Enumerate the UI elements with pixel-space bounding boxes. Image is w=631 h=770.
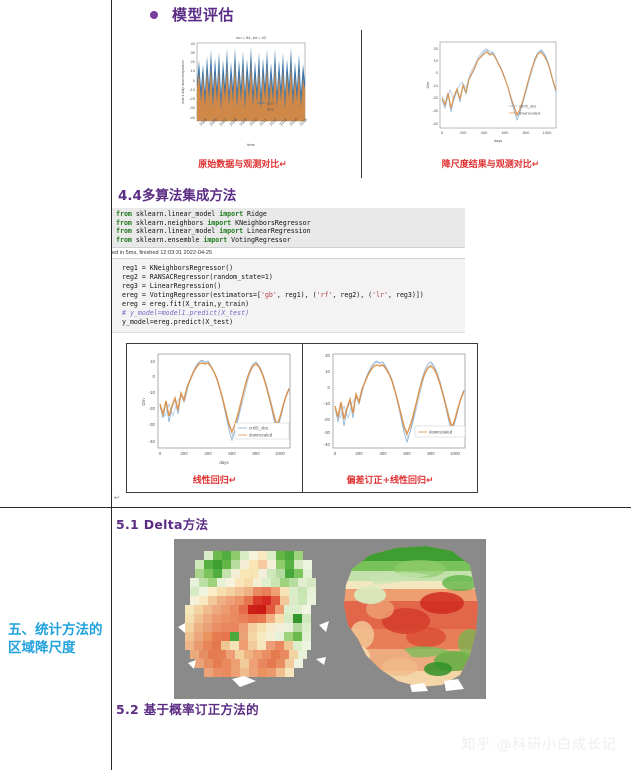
code-input-block[interactable]: from sklearn.linear_model import Ridge f… (112, 208, 465, 247)
code-output-block[interactable]: reg1 = KNeighborsRegressor() reg2 = RANS… (112, 259, 465, 333)
document-page: 模型评估 lon = 84, lat = 43 40 30 20 (0, 0, 631, 770)
svg-text:20: 20 (325, 353, 330, 358)
svg-text:downscaled: downscaled (249, 433, 273, 438)
x-axis-label: days (493, 138, 501, 143)
heading-4-4: 4.4多算法集成方法 (118, 184, 631, 204)
content-cell-section-5: 5.1 Delta方法 (112, 508, 631, 770)
svg-text:-10: -10 (189, 87, 196, 92)
svg-text:1000: 1000 (542, 130, 552, 135)
svg-text:-20: -20 (189, 96, 196, 101)
watermark: 知乎 @科研小白成长记 (462, 734, 617, 754)
bullet-heading: 模型评估 (112, 0, 631, 27)
svg-text:-40: -40 (432, 121, 439, 126)
svg-text:-30: -30 (148, 422, 155, 427)
svg-text:200: 200 (459, 130, 466, 135)
figure-bias-correction: 20 10 0 -10 -20 -30 -40 (302, 344, 477, 492)
figure-downscaled-vs-obs: 20 10 0 -10 -20 -30 -40 t2m (361, 30, 619, 178)
svg-text:20: 20 (433, 46, 438, 51)
figure-linear-regression: 10 0 -10 -20 -30 -40 t2m (127, 344, 302, 492)
svg-text:20: 20 (190, 59, 195, 64)
paragraph-mark: ↵ (114, 494, 631, 502)
svg-text:10: 10 (325, 369, 330, 374)
heading-5-1: 5.1 Delta方法 (116, 514, 631, 533)
svg-text:10: 10 (150, 359, 155, 364)
chart-downscaled-vs-obs: 20 10 0 -10 -20 -30 -40 t2m (416, 30, 566, 156)
figure-raw-vs-obs: lon = 84, lat = 43 40 30 20 10 0 -10 -20 (124, 30, 361, 178)
figure-caption: 偏差订正+线性回归↵ (346, 473, 433, 486)
svg-text:40: 40 (190, 41, 195, 46)
sidebar-title-line2: 区域降尺度 (8, 640, 76, 656)
figure-caption: 线性回归↵ (193, 473, 237, 486)
chart-linear-regression: 10 0 -10 -20 -30 -40 t2m (128, 344, 302, 472)
table-row: 五、统计方法的 区域降尺度 5.1 Delta方法 (0, 508, 631, 770)
figure-caption: 降尺度结果与观测对比↵ (442, 157, 540, 170)
svg-text:10: 10 (433, 58, 438, 63)
y-axis-label: t2m (425, 81, 430, 88)
map-delta-downscaling (174, 539, 486, 699)
svg-text:800: 800 (427, 451, 435, 456)
x-axis-label: time (247, 142, 255, 147)
svg-text:400: 400 (379, 451, 387, 456)
figure-block-regression: 10 0 -10 -20 -30 -40 t2m (126, 343, 478, 493)
svg-text:-30: -30 (324, 430, 331, 435)
svg-text:400: 400 (480, 130, 487, 135)
svg-text:-30: -30 (189, 105, 196, 110)
chart-title: lon = 84, lat = 43 (236, 35, 267, 40)
code-execution-status: ed in 5ms, finished 12:03:31 2022-04-25 (112, 247, 465, 259)
svg-text:obs: obs (267, 107, 273, 112)
sidebar-cell-section-5: 五、统计方法的 区域降尺度 (0, 508, 112, 770)
svg-text:400: 400 (204, 451, 212, 456)
sidebar-cell-empty (0, 0, 112, 507)
svg-text:-20: -20 (432, 95, 439, 100)
svg-text:-40: -40 (324, 442, 331, 447)
svg-text:-10: -10 (324, 401, 331, 406)
svg-text:600: 600 (228, 451, 236, 456)
svg-text:-20: -20 (148, 406, 155, 411)
svg-text:600: 600 (403, 451, 411, 456)
svg-text:30: 30 (190, 50, 195, 55)
svg-text:800: 800 (252, 451, 260, 456)
y-axis-label: near-1 daily mean temperature (181, 60, 185, 104)
svg-text:-10: -10 (148, 390, 155, 395)
chart-bias-correction: 20 10 0 -10 -20 -30 -40 (303, 344, 477, 472)
svg-text:200: 200 (180, 451, 188, 456)
svg-text:-40: -40 (148, 439, 155, 444)
svg-text:600: 600 (501, 130, 508, 135)
code-cell: from sklearn.linear_model import Ridge f… (112, 208, 465, 333)
svg-text:1000: 1000 (275, 451, 285, 456)
y-axis-label: t2m (141, 398, 146, 406)
heading-5-2: 5.2 基于概率订正方法的 (116, 699, 631, 718)
svg-text:-20: -20 (324, 417, 331, 422)
sidebar-title-line1: 五、统计方法的 (8, 622, 103, 638)
chart-legend: cn05_obs downscaled (235, 423, 289, 439)
x-axis-label: days (219, 460, 229, 465)
table-row: 模型评估 lon = 84, lat = 43 40 30 20 (0, 0, 631, 508)
svg-text:downscaled: downscaled (429, 430, 453, 435)
chart-legend: downscaled (415, 426, 465, 437)
bullet-heading-label: 模型评估 (172, 4, 234, 25)
bullet-dot-icon (150, 11, 158, 19)
svg-text:800: 800 (522, 130, 529, 135)
sidebar-title: 五、统计方法的 区域降尺度 (8, 621, 105, 657)
svg-text:gcm: gcm (267, 101, 275, 106)
map-raster (174, 539, 486, 699)
svg-text:downscaled: downscaled (519, 111, 540, 116)
svg-text:cn05_obs: cn05_obs (249, 426, 269, 431)
figure-caption: 原始数据与观测对比↵ (198, 157, 287, 170)
svg-text:1000: 1000 (450, 451, 460, 456)
svg-text:-10: -10 (432, 83, 439, 88)
svg-text:-40: -40 (189, 115, 196, 120)
svg-text:10: 10 (190, 68, 195, 73)
content-cell-model-eval: 模型评估 lon = 84, lat = 43 40 30 20 (112, 0, 631, 507)
svg-text:cn05_obs: cn05_obs (519, 104, 536, 109)
svg-text:-30: -30 (432, 108, 439, 113)
chart-raw-vs-obs: lon = 84, lat = 43 40 30 20 10 0 -10 -20 (173, 30, 313, 156)
figure-block-model-eval: lon = 84, lat = 43 40 30 20 10 0 -10 -20 (124, 30, 619, 178)
svg-text:200: 200 (355, 451, 363, 456)
